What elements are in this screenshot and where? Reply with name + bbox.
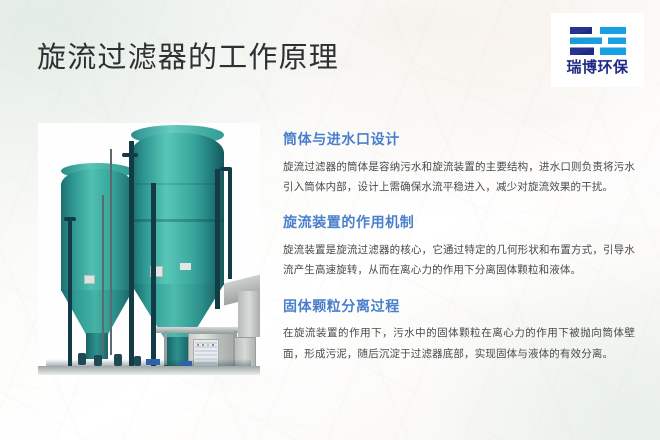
photo-illustration	[38, 123, 260, 375]
section-2-body: 旋流装置是旋流过滤器的核心，它通过特定的几何形状和布置方式，引导水流产生高速旋转…	[283, 240, 635, 281]
content-column: 筒体与进水口设计 旋流过滤器的筒体是容纳污水和旋流装置的主要结构，进水口则负责将…	[283, 131, 635, 364]
downcomer-pipe-right	[215, 169, 220, 309]
instrument-mast	[110, 149, 112, 355]
cabinet-indicator-amber	[207, 344, 209, 346]
pipe-elbow-left	[64, 217, 76, 221]
ground-plane	[38, 366, 260, 375]
valve-2	[94, 355, 102, 366]
blue-equipment-1	[146, 359, 160, 365]
cabinet-indicator-green	[202, 344, 204, 346]
section-1-body: 旋流过滤器的筒体是容纳污水和旋流装置的主要结构，进水口则负责将污水引入筒体内部，…	[283, 157, 635, 198]
content-section-3: 固体颗粒分离过程 在旋流装置的作用下，污水中的固体颗粒在离心力的作用下被抛向筒体…	[283, 298, 635, 364]
valve-3	[114, 354, 122, 366]
logo-text: 瑞博环保	[566, 60, 628, 75]
content-section-1: 筒体与进水口设计 旋流过滤器的筒体是容纳污水和旋流装置的主要结构，进水口则负责将…	[283, 131, 635, 197]
section-1-title: 筒体与进水口设计	[283, 131, 635, 149]
tank-primary-nameplate-2	[180, 263, 191, 270]
tank-primary-seam-upper	[131, 183, 224, 185]
slide-root: 旋流过滤器的工作原理 瑞博环保	[0, 0, 660, 440]
valve-1	[78, 353, 86, 365]
instrument-mast-2	[102, 195, 104, 355]
tank-secondary-nameplate	[84, 275, 95, 284]
cabinet-indicator-blue	[212, 344, 214, 346]
pipe-crossover-top	[122, 153, 138, 157]
downcomer-pipe-inner	[151, 183, 156, 367]
downcomer-pipe-far-right	[228, 169, 232, 279]
brand-logo: 瑞博环保	[551, 13, 644, 87]
section-2-title: 旋流装置的作用机制	[283, 214, 635, 232]
cabinet-indicator-red	[197, 344, 199, 346]
tank-primary-seam-lower	[131, 219, 224, 222]
tank-primary-shell	[131, 133, 224, 285]
section-3-title: 固体颗粒分离过程	[283, 298, 635, 316]
valve-4	[134, 356, 141, 366]
content-section-2: 旋流装置的作用机制 旋流装置是旋流过滤器的核心，它通过特定的几何形状和布置方式，…	[283, 214, 635, 280]
section-3-body: 在旋流装置的作用下，污水中的固体颗粒在离心力的作用下被抛向筒体壁面，形成污泥，随…	[283, 323, 635, 364]
downcomer-pipe-center	[129, 141, 134, 369]
equipment-photo	[38, 123, 260, 375]
page-title: 旋流过滤器的工作原理	[37, 41, 339, 76]
side-enclosure	[238, 291, 260, 337]
downcomer-pipe-left	[68, 219, 72, 367]
logo-mark-icon	[568, 25, 628, 57]
